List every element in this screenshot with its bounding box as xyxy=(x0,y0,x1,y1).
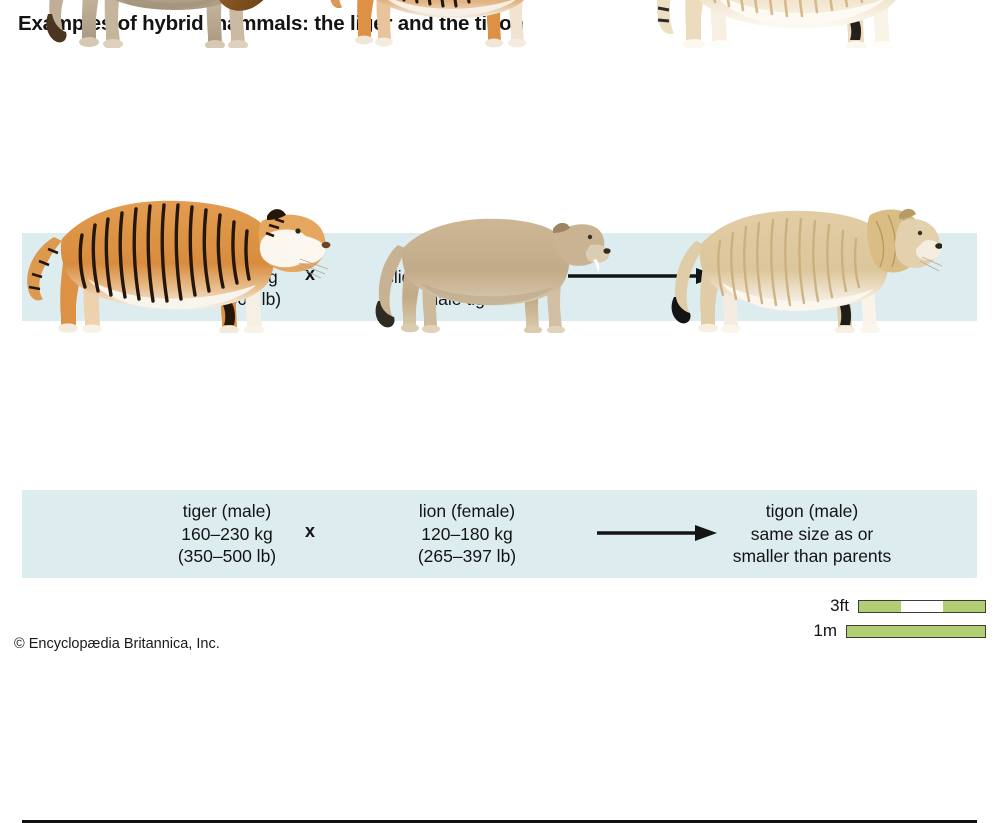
caption-line: 120–180 kg xyxy=(342,523,592,546)
illustration-tiger-female xyxy=(322,0,590,48)
scale-row-1m: 1m xyxy=(808,621,986,641)
caption-line: tigon (male) xyxy=(662,500,962,523)
scale-label-1m: 1m xyxy=(813,621,837,641)
illustration-tigon-male xyxy=(656,193,942,333)
scale-row-3ft: 3ft xyxy=(808,596,986,616)
cross-operator: x xyxy=(305,521,315,542)
caption-line: 160–230 kg xyxy=(77,523,377,546)
caption-tiger-male: tiger (male) 160–230 kg (350–500 lb) xyxy=(77,500,377,568)
scale-label-3ft: 3ft xyxy=(830,596,849,616)
caption-line: tiger (male) xyxy=(77,500,377,523)
illustration-liger-male xyxy=(636,0,978,48)
caption-band-tigon: tiger (male) 160–230 kg (350–500 lb) x l… xyxy=(22,490,977,578)
scale-segment xyxy=(901,601,943,612)
scale-segment xyxy=(847,626,985,637)
illustration-tiger-male xyxy=(18,175,348,333)
copyright-credit: © Encyclopædia Britannica, Inc. xyxy=(14,636,220,652)
caption-line: same size as or xyxy=(662,523,962,546)
caption-tigon-male: tigon (male) same size as or smaller tha… xyxy=(662,500,962,568)
scale-bar-3ft xyxy=(858,600,986,613)
caption-line: (350–500 lb) xyxy=(77,545,377,568)
scale-segment xyxy=(859,601,901,612)
caption-lion-female: lion (female) 120–180 kg (265–397 lb) xyxy=(342,500,592,568)
illustration-lion-female xyxy=(356,201,620,333)
caption-line: smaller than parents xyxy=(662,545,962,568)
scale-bar-1m xyxy=(846,625,986,638)
caption-line: lion (female) xyxy=(342,500,592,523)
caption-line: (265–397 lb) xyxy=(342,545,592,568)
illustration-lion-male xyxy=(24,0,314,48)
scale-legend: 3ft 1m xyxy=(808,596,986,646)
scale-segment xyxy=(943,601,985,612)
